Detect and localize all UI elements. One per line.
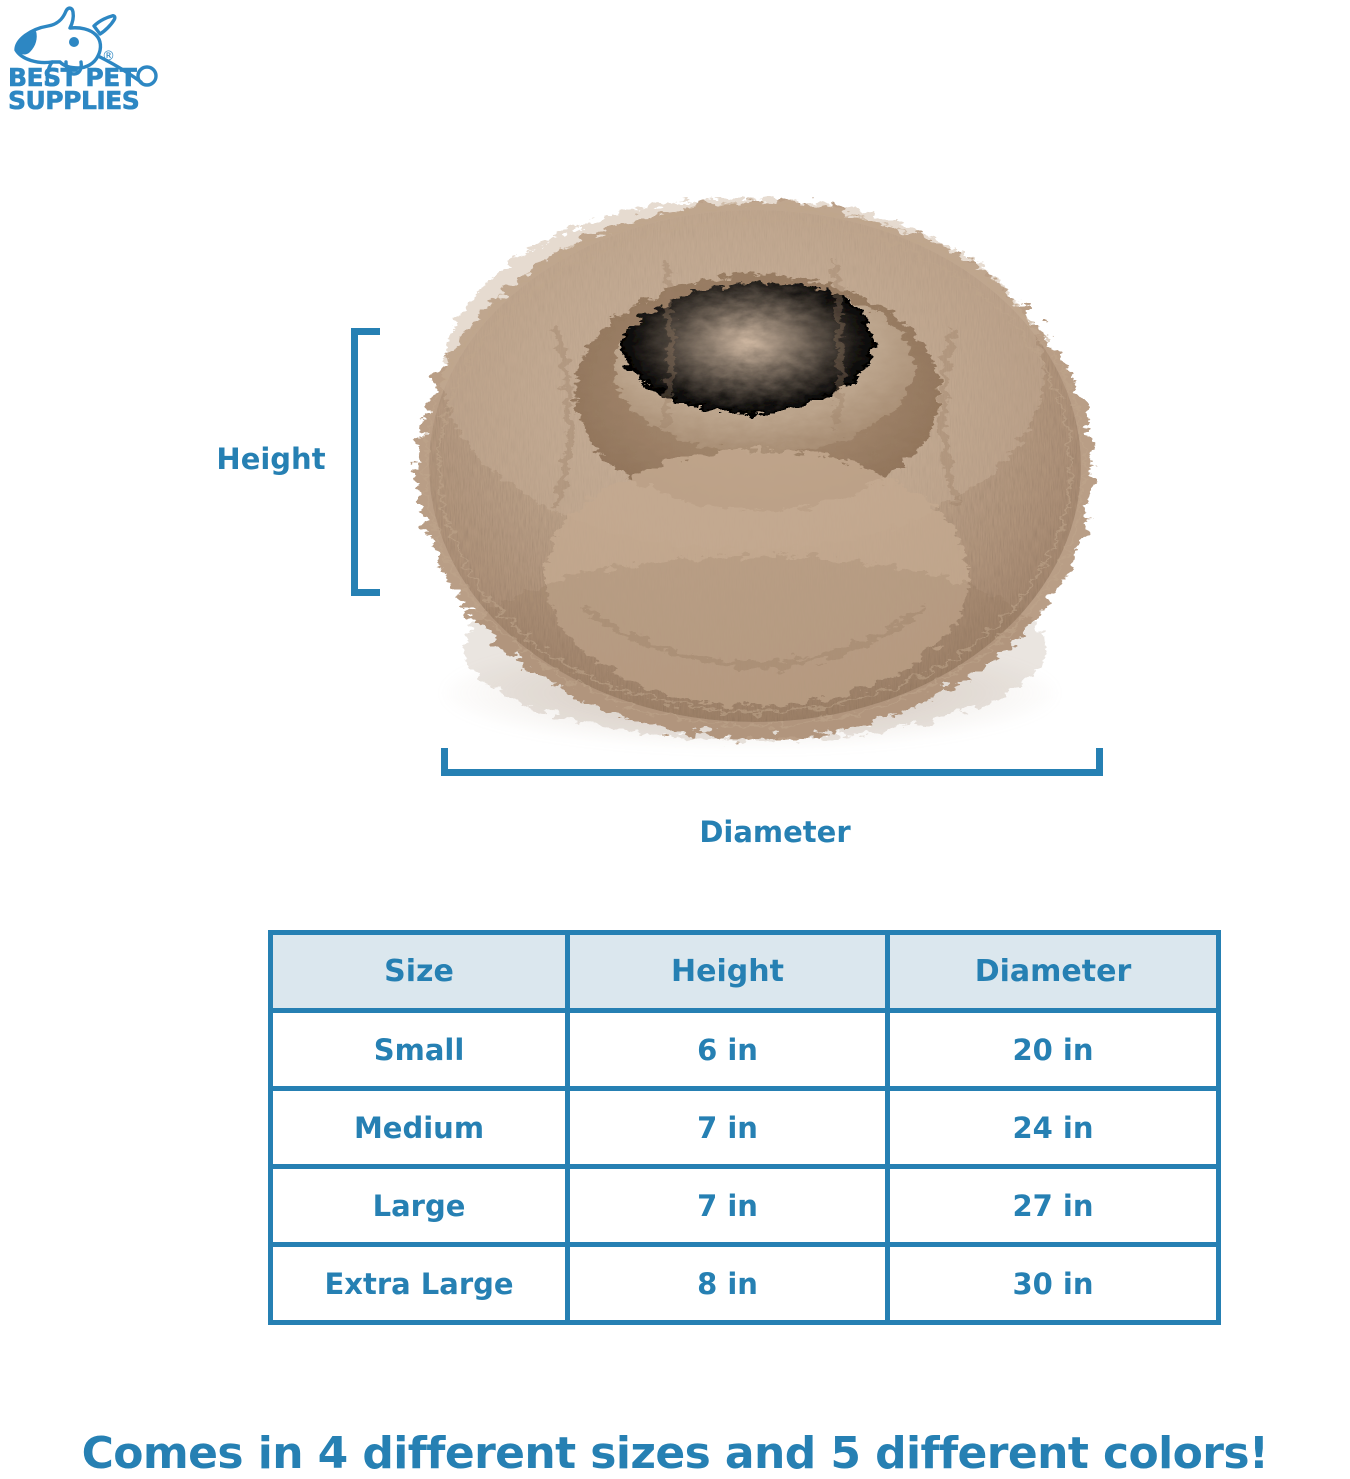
cell-size: Extra Large (271, 1245, 568, 1323)
diameter-bracket (441, 748, 1103, 776)
column-header-diameter: Diameter (888, 933, 1219, 1011)
svg-text:®: ® (102, 49, 115, 64)
cell-height: 6 in (568, 1011, 888, 1089)
cell-size: Medium (271, 1089, 568, 1167)
brand-wordmark: BEST PET SUPPLIES (8, 66, 158, 113)
footer-caption: Comes in 4 different sizes and 5 differe… (0, 1428, 1350, 1479)
table-header: Size Height Diameter (271, 933, 1219, 1011)
column-header-height: Height (568, 933, 888, 1011)
column-header-size: Size (271, 933, 568, 1011)
table-header-row: Size Height Diameter (271, 933, 1219, 1011)
size-table: Size Height Diameter Small 6 in 20 in Me… (268, 930, 1221, 1325)
cell-size: Small (271, 1011, 568, 1089)
table-row: Extra Large 8 in 30 in (271, 1245, 1219, 1323)
infographic-canvas: ® BEST PET SUPPLIES (0, 0, 1350, 1475)
diameter-label: Diameter (635, 815, 915, 849)
product-image (385, 168, 1115, 768)
height-bracket (351, 328, 380, 596)
height-label: Height (206, 442, 336, 476)
cell-size: Large (271, 1167, 568, 1245)
size-chart: Size Height Diameter Small 6 in 20 in Me… (268, 930, 1221, 1304)
table-body: Small 6 in 20 in Medium 7 in 24 in Large… (271, 1011, 1219, 1323)
plush-donut-bed-illustration (405, 178, 1105, 748)
table-row: Large 7 in 27 in (271, 1167, 1219, 1245)
cell-diameter: 27 in (888, 1167, 1219, 1245)
table-row: Small 6 in 20 in (271, 1011, 1219, 1089)
cell-diameter: 20 in (888, 1011, 1219, 1089)
cell-height: 7 in (568, 1167, 888, 1245)
brand-wordmark-line2: SUPPLIES (8, 89, 158, 112)
cell-diameter: 24 in (888, 1089, 1219, 1167)
cell-height: 8 in (568, 1245, 888, 1323)
logo-eye (69, 37, 79, 47)
cell-height: 7 in (568, 1089, 888, 1167)
table-row: Medium 7 in 24 in (271, 1089, 1219, 1167)
cell-diameter: 30 in (888, 1245, 1219, 1323)
